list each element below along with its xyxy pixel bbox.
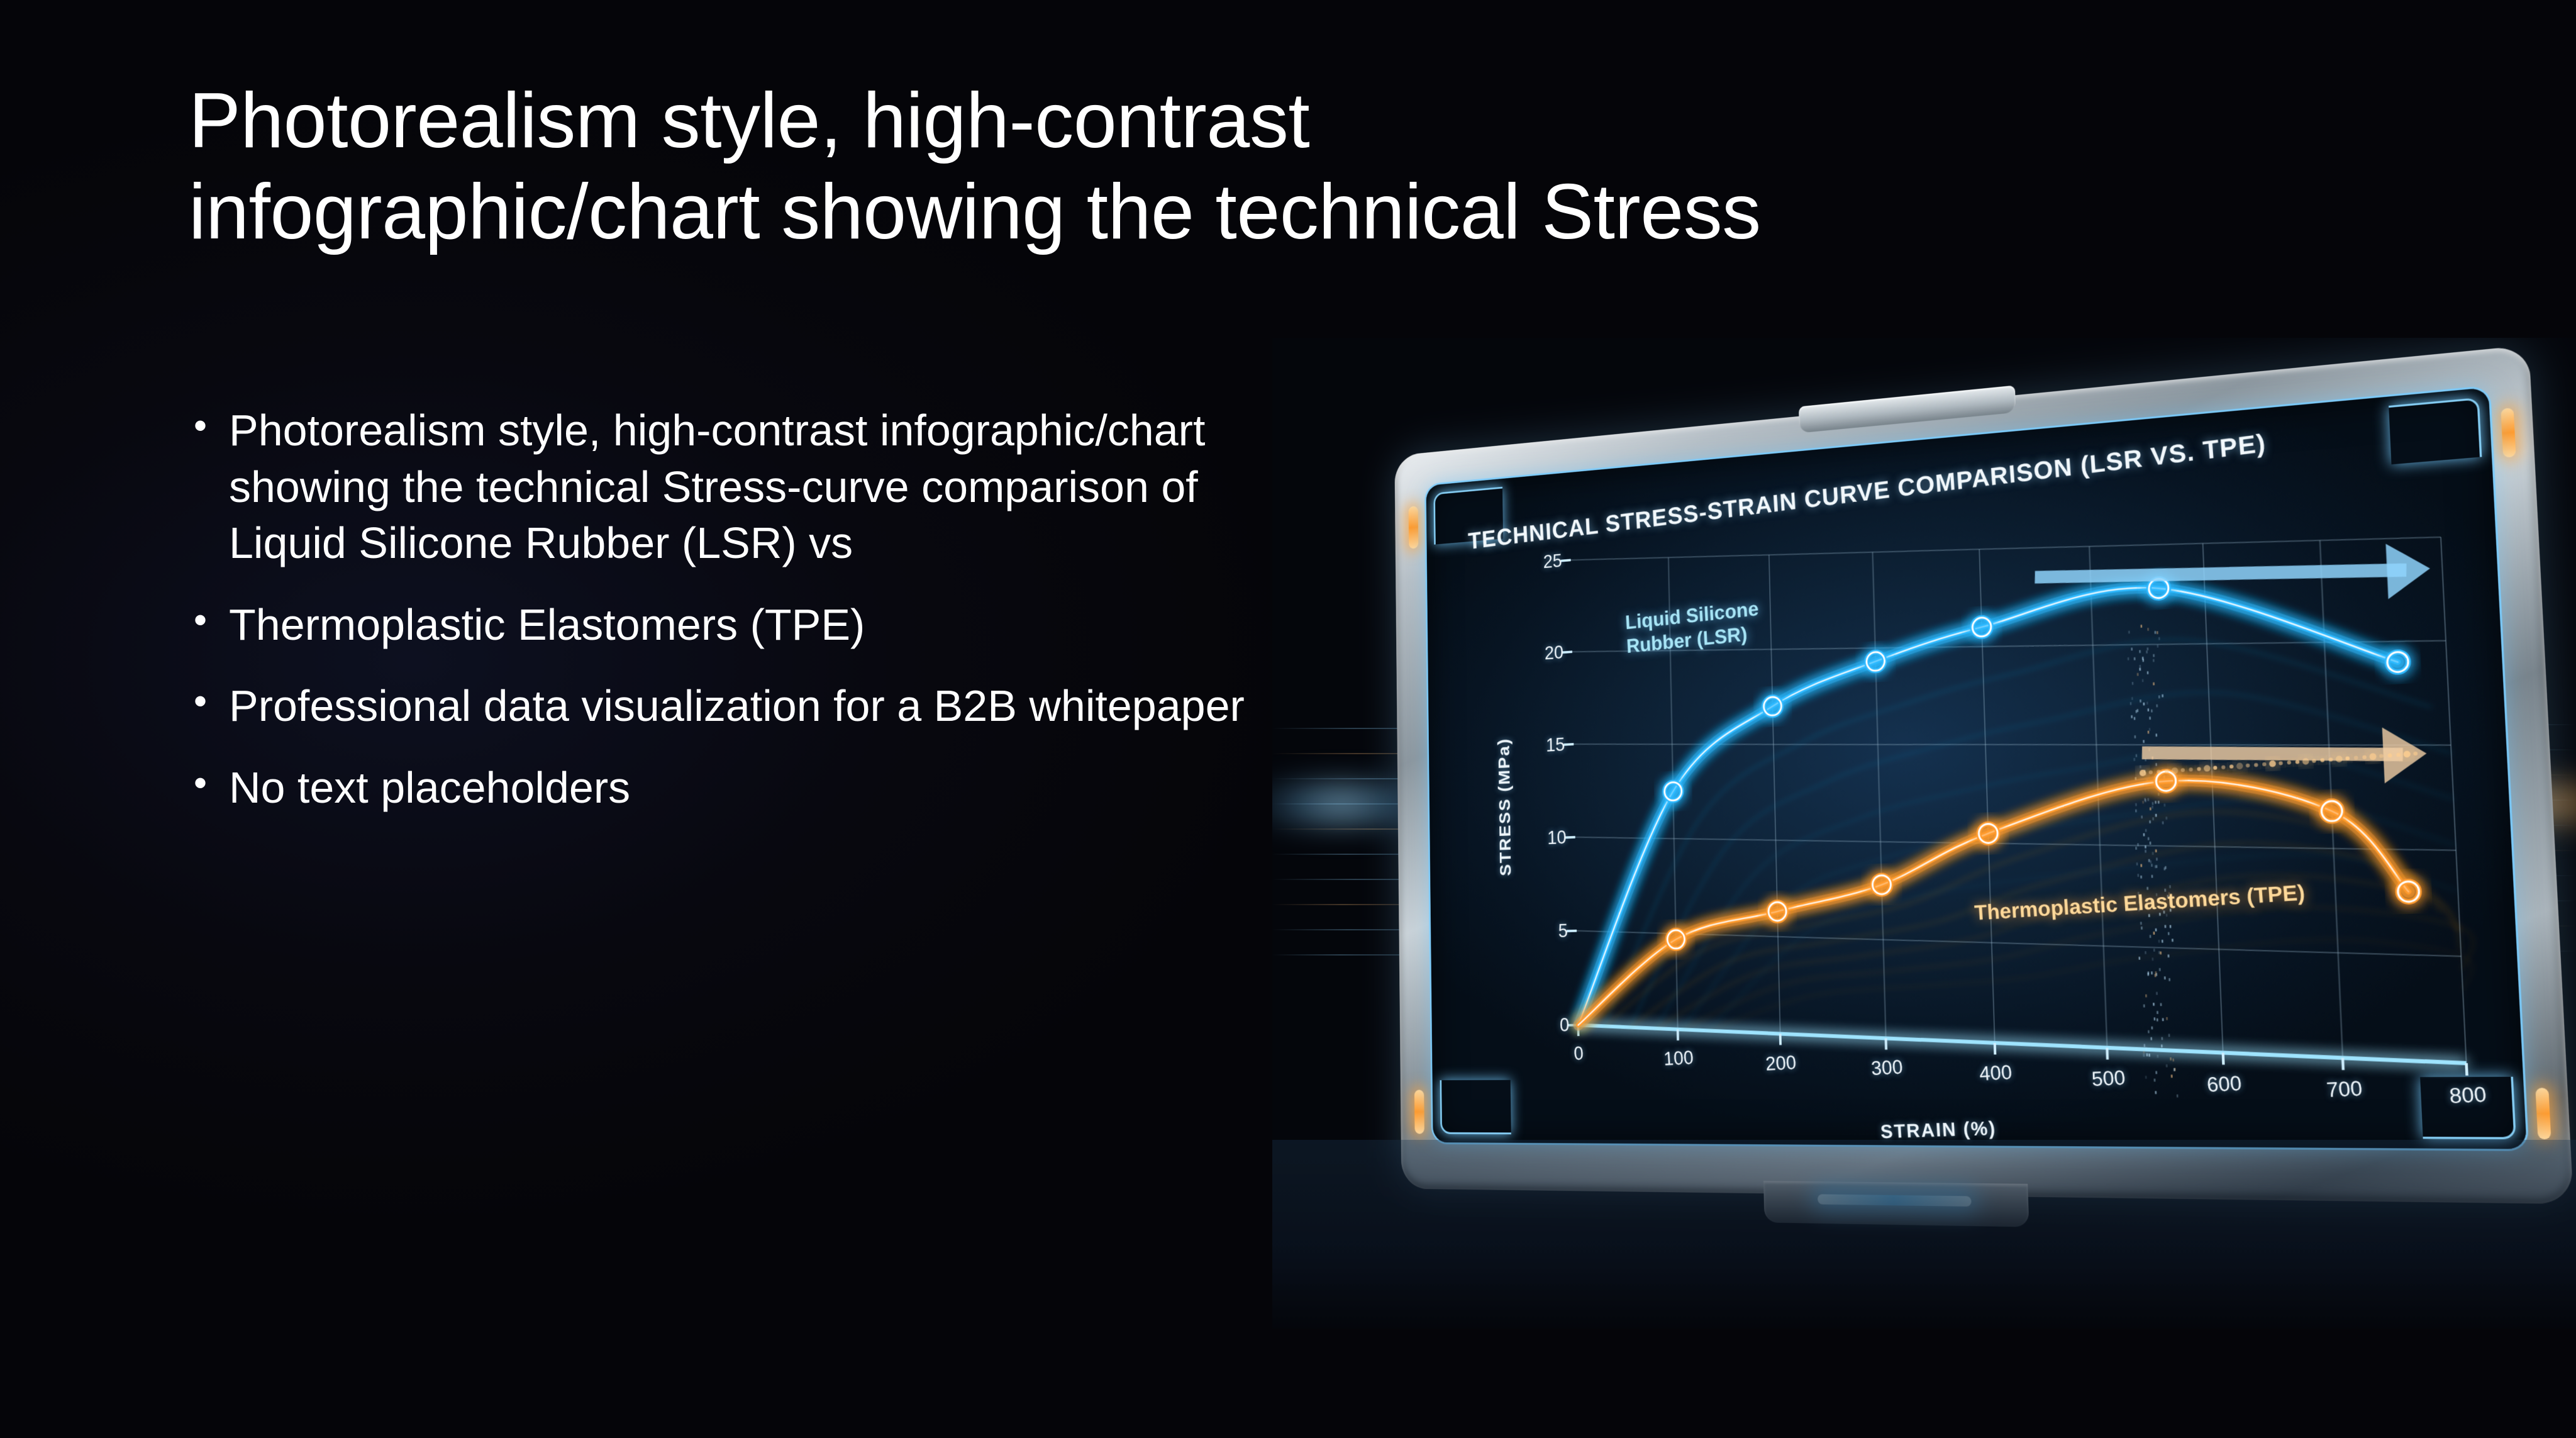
corner-led-icon [1409, 506, 1419, 549]
x-tick-label: 100 [1663, 1047, 1694, 1071]
stress-strain-chart [1426, 387, 2527, 1149]
y-tick-label: 15 [1546, 734, 1565, 756]
bullet-marker: • [189, 597, 229, 643]
list-item: • Photorealism style, high-contrast info… [189, 403, 1270, 572]
y-axis-label: STRESS (MPa) [1495, 737, 1515, 876]
bullet-text: No text placeholders [229, 760, 1270, 817]
stand-led-icon [1818, 1194, 1972, 1207]
x-tick-label: 700 [2325, 1077, 2363, 1103]
bullet-text: Thermoplastic Elastomers (TPE) [229, 597, 1270, 654]
corner-led-icon [2501, 408, 2516, 458]
corner-led-icon [2535, 1088, 2551, 1139]
bullet-marker: • [189, 403, 229, 449]
x-tick-label: 500 [2090, 1066, 2126, 1091]
bullet-list: • Photorealism style, high-contrast info… [189, 403, 1270, 842]
y-tick-label: 20 [1545, 642, 1564, 664]
x-tick-label: 800 [2448, 1083, 2487, 1109]
chart-plot-area: STRESS (MPa) STRAIN (%) 0510152025 01002… [1426, 387, 2527, 1149]
x-tick-label: 300 [1870, 1056, 1904, 1081]
list-item: • Thermoplastic Elastomers (TPE) [189, 597, 1270, 654]
page-title: Photorealism style, high-contrast infogr… [189, 75, 2390, 258]
bullet-marker: • [189, 678, 229, 724]
corner-led-icon [1414, 1090, 1424, 1134]
tablet-notch [1799, 385, 2016, 433]
x-tick-label: 0 [1574, 1042, 1584, 1065]
tablet-screen: TECHNICAL STRESS-STRAIN CURVE COMPARISON… [1426, 387, 2527, 1149]
tablet-stand [1763, 1181, 2029, 1227]
x-axis-label: STRAIN (%) [1880, 1118, 1997, 1144]
bullet-text: Photorealism style, high-contrast infogr… [229, 403, 1270, 572]
y-tick-label: 25 [1543, 550, 1562, 573]
y-tick-label: 10 [1547, 827, 1567, 849]
list-item: • Professional data visualization for a … [189, 678, 1270, 735]
x-tick-label: 600 [2206, 1071, 2243, 1097]
slide-image: TECHNICAL STRESS-STRAIN CURVE COMPARISON… [1272, 338, 2576, 1329]
y-tick-label: 0 [1560, 1014, 1570, 1036]
y-tick-label: 5 [1558, 920, 1568, 942]
x-tick-label: 200 [1765, 1051, 1797, 1075]
bullet-text: Professional data visualization for a B2… [229, 678, 1270, 735]
x-tick-label: 400 [1979, 1061, 2012, 1086]
bullet-marker: • [189, 760, 229, 806]
tablet-device: TECHNICAL STRESS-STRAIN CURVE COMPARISON… [1394, 345, 2573, 1205]
presentation-slide: Photorealism style, high-contrast infogr… [0, 0, 2576, 1438]
tablet-frame: TECHNICAL STRESS-STRAIN CURVE COMPARISON… [1394, 345, 2573, 1205]
list-item: • No text placeholders [189, 760, 1270, 817]
